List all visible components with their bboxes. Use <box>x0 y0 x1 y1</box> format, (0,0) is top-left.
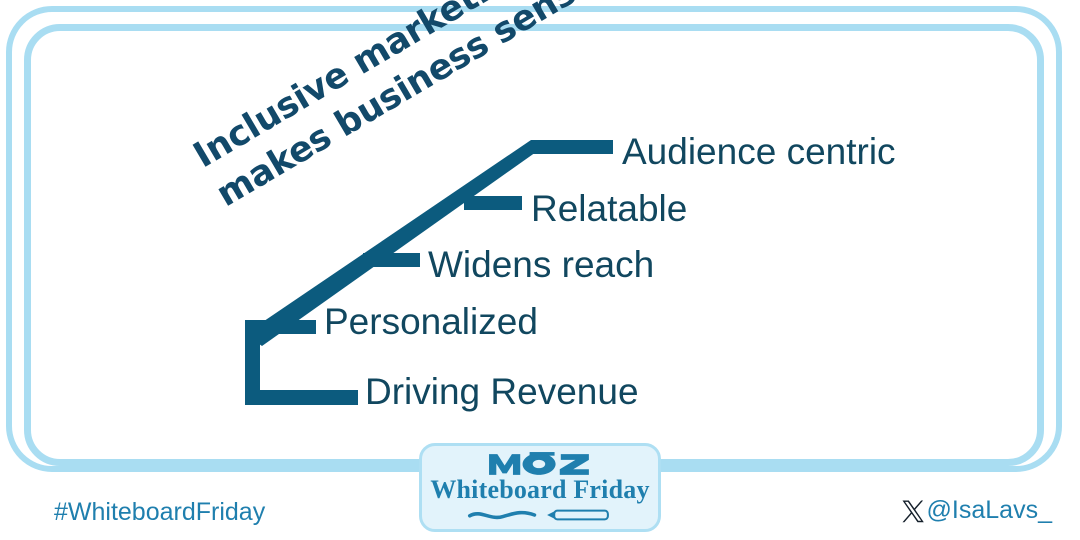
step-tick-5 <box>531 140 613 154</box>
moz-whiteboard-friday-badge: Whiteboard Friday <box>419 443 661 532</box>
squiggle-stroke-icon <box>470 513 535 518</box>
whiteboard-slide: Inclusive marketing makes business sense… <box>0 0 1080 540</box>
hashtag-whiteboardfriday[interactable]: #WhiteboardFriday <box>54 500 265 525</box>
step-label-relatable: Relatable <box>531 190 687 227</box>
step-label-driving-revenue: Driving Revenue <box>365 373 639 410</box>
social-handle-text[interactable]: @IsaLavs_ <box>927 498 1052 523</box>
step-label-widens-reach: Widens reach <box>428 246 654 283</box>
x-twitter-icon[interactable] <box>901 499 925 523</box>
step-tick-2 <box>259 320 316 334</box>
badge-title: Whiteboard Friday <box>430 477 649 503</box>
whiteboard-marker-icon <box>465 507 615 523</box>
step-label-audience-centric: Audience centric <box>622 133 896 170</box>
step-tick-1 <box>245 390 358 405</box>
step-tick-4 <box>464 196 522 210</box>
moz-wordmark <box>488 452 592 476</box>
step-label-personalized: Personalized <box>324 303 538 340</box>
social-handle-group[interactable]: @IsaLavs_ <box>901 498 1052 523</box>
step-tick-3 <box>363 253 420 267</box>
